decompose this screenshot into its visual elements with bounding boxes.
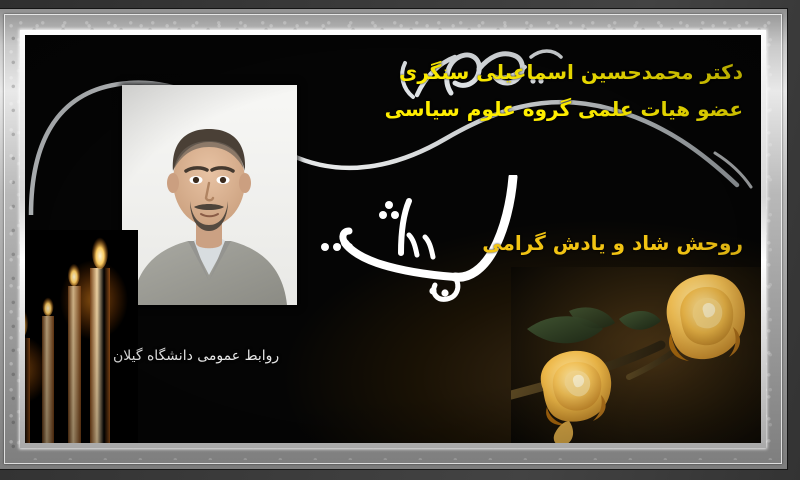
yellow-roses-icon xyxy=(511,267,761,443)
picture-frame: دکتر محمدحسین اسماعیلی سنگری عضو هیات عل… xyxy=(0,8,788,470)
publisher-credit: روابط عمومی دانشگاه گیلان xyxy=(113,348,279,364)
blessing-text: روحش شاد و یادش گرامی xyxy=(482,231,743,255)
deceased-title: عضو هیات علمی گروه علوم سیاسی xyxy=(385,97,743,121)
deceased-name: دکتر محمدحسین اسماعیلی سنگری xyxy=(399,60,743,84)
portrait-illustration-icon xyxy=(122,85,297,305)
candles-icon xyxy=(25,230,138,443)
portrait-photo xyxy=(122,85,297,305)
memorial-card-stage: دکتر محمدحسین اسماعیلی سنگری عضو هیات عل… xyxy=(0,0,800,480)
artwork-canvas: دکتر محمدحسین اسماعیلی سنگری عضو هیات عل… xyxy=(25,35,761,443)
